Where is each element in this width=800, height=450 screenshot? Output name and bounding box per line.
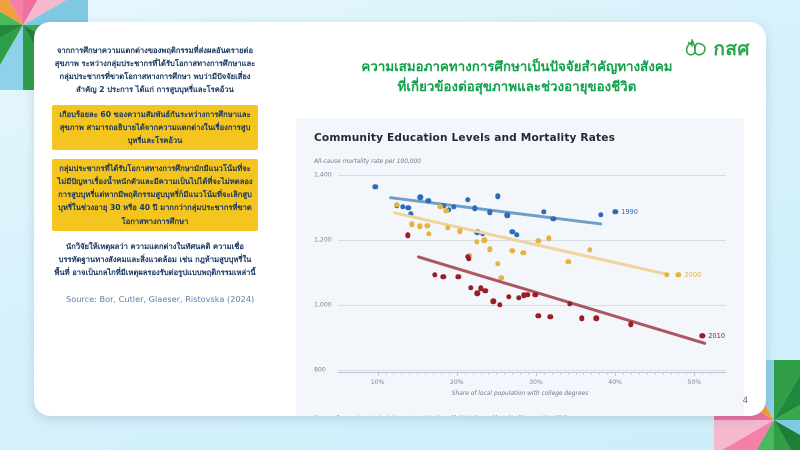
chart-data-point-2000 (474, 239, 479, 244)
chart-x-tick-major (378, 373, 379, 376)
chart-trend-line-2000 (392, 211, 667, 276)
chart-data-point-2000 (426, 231, 431, 236)
chart-plot-area: Share of local population with college d… (314, 168, 726, 373)
chart-y-tick-label: 1,200 (314, 236, 336, 243)
chart-x-tick-minor (647, 373, 648, 375)
chart-data-point-2000 (444, 208, 449, 213)
chart-data-point-2000 (394, 202, 399, 207)
chart-x-tick-minor (512, 373, 513, 375)
chart-x-tick-minor (409, 373, 410, 375)
chart-x-tick-minor (639, 373, 640, 375)
chart-x-tick-label: 50% (687, 379, 701, 386)
chart-x-tick-minor (465, 373, 466, 375)
chart-x-tick-minor (544, 373, 545, 375)
chart-x-tick-major (694, 373, 695, 376)
chart-data-point-2000 (510, 248, 515, 253)
chart-data-point-2000 (482, 238, 487, 243)
chart-data-point-2000 (437, 204, 442, 209)
chart-source-note: Source: Researchers' calculations using … (314, 415, 585, 416)
chart-gridline (338, 175, 726, 176)
chart-x-tick-minor (568, 373, 569, 375)
chart-x-tick-minor (671, 373, 672, 375)
chart-gridline (338, 305, 726, 306)
chart-series-label-2010: 2010 (708, 332, 725, 340)
chart-panel: Community Education Levels and Mortality… (296, 118, 744, 416)
chart-legend-marker-2010 (700, 333, 705, 338)
chart-data-point-1990 (598, 212, 603, 217)
chart-x-tick-minor (481, 373, 482, 375)
page-title-line-2: ที่เกี่ยวข้องต่อสุขภาพและช่วงอายุของชีวิ… (282, 78, 752, 98)
chart-data-point-1990 (487, 210, 492, 215)
chart-data-point-1990 (451, 204, 456, 209)
chart-data-point-2010 (506, 294, 511, 299)
logo-text: กสศ (713, 34, 750, 64)
chart-y-tick-label: 1,000 (314, 301, 336, 308)
chart-data-point-2000 (409, 222, 414, 227)
source-citation: Source: Bor, Cutler, Glaeser, Ristovska … (52, 293, 258, 306)
chart-x-tick-minor (441, 373, 442, 375)
chart-data-point-2010 (579, 316, 584, 321)
chart-data-point-2010 (490, 299, 495, 304)
chart-x-tick-minor (425, 373, 426, 375)
chart-x-tick-minor (386, 373, 387, 375)
chart-x-tick-minor (576, 373, 577, 375)
chart-data-point-2000 (521, 250, 526, 255)
chart-data-point-2010 (497, 302, 502, 307)
chart-x-tick-minor (631, 373, 632, 375)
leaf-butterfly-logo-icon (682, 39, 708, 59)
chart-y-axis-label: All-cause mortality rate per 100,000 (314, 159, 421, 165)
chart-x-tick-minor (528, 373, 529, 375)
page-number: 4 (743, 396, 748, 406)
chart-data-point-2010 (532, 292, 537, 297)
chart-trend-line-2010 (417, 255, 707, 345)
body-paragraph-3-highlighted: กลุ่มประชากรที่ได้รับโอกาสทางการศึกษามัก… (52, 159, 258, 230)
chart-x-tick-minor (552, 373, 553, 375)
chart-x-tick-major (536, 373, 537, 376)
chart-gridline (338, 370, 726, 371)
chart-x-tick-minor (488, 373, 489, 375)
chart-x-tick-major (615, 373, 616, 376)
chart-data-point-1990 (373, 184, 378, 189)
chart-data-point-2010 (466, 256, 471, 261)
chart-series-label-2000: 2000 (684, 271, 701, 279)
chart-x-tick-minor (401, 373, 402, 375)
chart-data-point-2010 (475, 291, 480, 296)
chart-x-tick-minor (678, 373, 679, 375)
chart-data-point-2010 (441, 274, 446, 279)
chart-data-point-2010 (468, 285, 473, 290)
chart-y-tick-label: 1,400 (314, 171, 336, 178)
chart-x-tick-label: 40% (608, 379, 622, 386)
chart-data-point-2010 (456, 274, 461, 279)
chart-data-point-2000 (487, 247, 492, 252)
chart-x-tick-minor (504, 373, 505, 375)
chart-data-point-2010 (432, 272, 437, 277)
chart-x-tick-minor (520, 373, 521, 375)
chart-x-tick-minor (560, 373, 561, 375)
chart-trend-line-1990 (389, 196, 603, 226)
left-text-column: จากการศึกษาความแตกต่างของพฤติกรรมที่ส่งผ… (52, 44, 258, 305)
chart-x-tick-minor (599, 373, 600, 375)
chart-x-tick-minor (393, 373, 394, 375)
chart-data-point-1990 (505, 212, 510, 217)
chart-data-point-1990 (514, 232, 519, 237)
chart-x-tick-minor (655, 373, 656, 375)
chart-data-point-2010 (567, 301, 572, 306)
chart-data-point-1990 (406, 205, 411, 210)
chart-data-point-2010 (405, 233, 410, 238)
chart-legend-marker-1990 (612, 209, 617, 214)
chart-data-point-1990 (465, 197, 470, 202)
chart-x-axis (338, 372, 726, 373)
chart-x-tick-label: 10% (371, 379, 385, 386)
chart-data-point-1990 (472, 206, 477, 211)
chart-series-label-1990: 1990 (621, 208, 638, 216)
chart-data-point-2010 (593, 316, 598, 321)
chart-x-tick-minor (473, 373, 474, 375)
chart-x-tick-minor (433, 373, 434, 375)
body-paragraph-4: นักวิจัยให้เหตุผลว่า ความแตกต่างในทัศนคต… (52, 240, 258, 279)
chart-data-point-2000 (566, 259, 571, 264)
chart-x-tick-label: 30% (529, 379, 543, 386)
chart-data-point-2000 (417, 224, 422, 229)
chart-data-point-2000 (457, 228, 462, 233)
chart-x-tick-minor (449, 373, 450, 375)
body-paragraph-1: จากการศึกษาความแตกต่างของพฤติกรรมที่ส่งผ… (52, 44, 258, 96)
chart-data-point-2010 (483, 288, 488, 293)
chart-gridline (338, 240, 726, 241)
chart-x-tick-minor (496, 373, 497, 375)
chart-x-tick-major (457, 373, 458, 376)
chart-data-point-1990 (495, 194, 500, 199)
chart-y-tick-label: 800 (314, 366, 336, 373)
chart-data-point-1990 (551, 216, 556, 221)
chart-x-tick-minor (663, 373, 664, 375)
chart-data-point-1990 (541, 209, 546, 214)
chart-data-point-2010 (548, 314, 553, 319)
chart-x-tick-label: 20% (450, 379, 464, 386)
chart-data-point-2010 (525, 292, 530, 297)
chart-x-tick-minor (583, 373, 584, 375)
slide-card: กสศ ความเสมอภาคทางการศึกษาเป็นปัจจัยสำคั… (34, 22, 766, 416)
chart-x-axis-label: Share of local population with college d… (314, 391, 726, 397)
chart-data-point-2000 (495, 261, 500, 266)
chart-data-point-2010 (628, 321, 633, 326)
chart-legend-marker-2000 (676, 272, 681, 277)
chart-x-tick-minor (591, 373, 592, 375)
chart-data-point-2010 (516, 295, 521, 300)
chart-x-tick-minor (417, 373, 418, 375)
chart-x-tick-minor (702, 373, 703, 375)
slide-canvas: กสศ ความเสมอภาคทางการศึกษาเป็นปัจจัยสำคั… (0, 0, 800, 450)
chart-data-point-2000 (587, 247, 592, 252)
body-paragraph-2-highlighted: เกือบร้อยละ 60 ของความสัมพันธ์กันระหว่าง… (52, 105, 258, 150)
chart-x-tick-minor (710, 373, 711, 375)
chart-data-point-2000 (664, 272, 669, 277)
chart-data-point-2000 (445, 225, 450, 230)
chart-x-tick-minor (607, 373, 608, 375)
chart-data-point-2000 (425, 223, 430, 228)
chart-title: Community Education Levels and Mortality… (314, 132, 615, 144)
chart-data-point-2010 (536, 313, 541, 318)
chart-data-point-2000 (536, 238, 541, 243)
brand-logo: กสศ (682, 34, 750, 64)
chart-x-tick-minor (623, 373, 624, 375)
chart-x-tick-minor (686, 373, 687, 375)
